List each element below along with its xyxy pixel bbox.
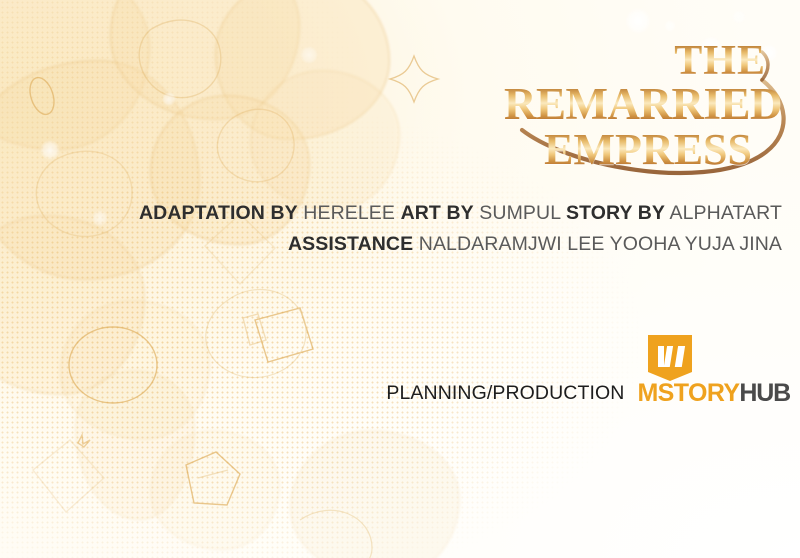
credits-block: ADAPTATION BY HERELEE ART BY SUMPUL STOR…: [0, 198, 782, 260]
mstoryhub-wordmark-hub: HUB: [739, 379, 790, 407]
sparkle-star: [390, 56, 438, 102]
credit-name-assistance: NALDARAMJWI LEE YOOHA YUJA JINA: [419, 233, 782, 255]
credits-page: THE REMARRIED EMPRESS ADAPTATION BY HERE…: [0, 0, 800, 558]
title-line-empress: EMPRESS: [544, 128, 752, 172]
credit-role-art: ART BY: [401, 202, 474, 224]
credit-name-story: ALPHATART: [669, 202, 782, 224]
series-title: THE REMARRIED EMPRESS: [470, 26, 800, 176]
mstoryhub-wordmark: MSTORYHUB: [637, 381, 790, 406]
credit-role-story: STORY BY: [566, 202, 665, 224]
credit-name-adaptation: HERELEE: [303, 202, 395, 224]
credit-line-2: ASSISTANCE NALDARAMJWI LEE YOOHA YUJA JI…: [0, 229, 782, 260]
production-row: PLANNING/PRODUCTION MSTORYHUB: [0, 378, 790, 408]
credit-line-1: ADAPTATION BY HERELEE ART BY SUMPUL STOR…: [0, 198, 782, 229]
credit-role-assistance: ASSISTANCE: [288, 233, 413, 255]
mstoryhub-book-mark-icon: [647, 334, 693, 382]
credit-name-art: SUMPUL: [479, 202, 560, 224]
mstoryhub-wordmark-mstory: MSTORY: [637, 379, 739, 407]
credit-role-adaptation: ADAPTATION BY: [139, 202, 298, 224]
title-line-remarried: REMARRIED: [504, 82, 782, 127]
title-line-the: THE: [674, 40, 766, 82]
production-label: PLANNING/PRODUCTION: [386, 382, 624, 405]
mstoryhub-logo: MSTORYHUB: [637, 378, 790, 408]
